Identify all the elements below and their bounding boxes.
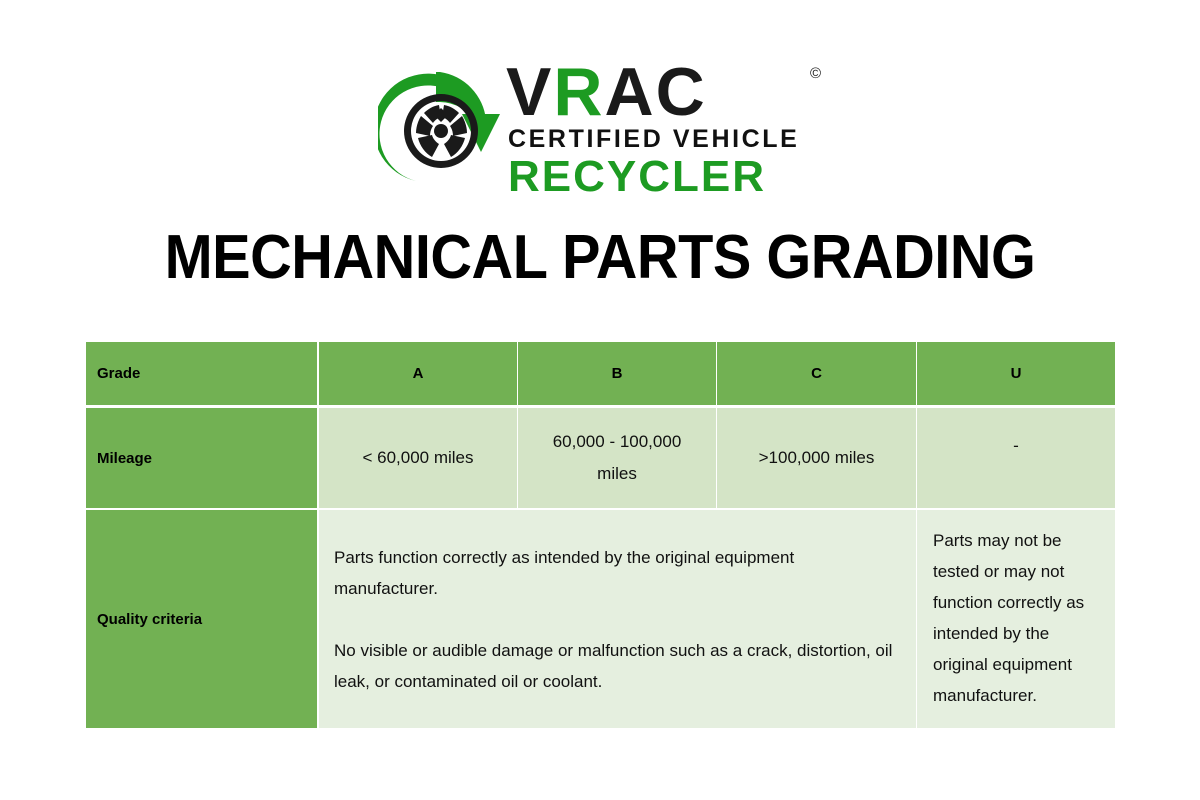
table-cell-mileage-u-text: -: [1013, 430, 1019, 462]
logo-tagline-line1: CERTIFIED VEHICLE: [508, 126, 799, 152]
copyright-icon: ©: [810, 66, 821, 81]
paragraph-spacer: [334, 604, 898, 635]
table-cell-mileage-a-text: < 60,000 miles: [362, 442, 473, 474]
table-cell-quality-abc-para2: No visible or audible damage or malfunct…: [334, 635, 898, 697]
table-header-grade-label: Grade: [97, 365, 317, 382]
table-header-b-label: B: [612, 365, 623, 382]
table-cell-quality-u: Parts may not be tested or may not funct…: [917, 510, 1115, 728]
table-header-a-label: A: [413, 365, 424, 382]
mechanical-parts-grading-table: Grade A B C U Mileage < 60,000 miles 60,…: [86, 342, 1115, 728]
table-header-c: C: [717, 342, 916, 405]
table-cell-mileage-u: -: [917, 408, 1115, 508]
table-row-label-mileage-text: Mileage: [97, 450, 317, 467]
table-header-grade: Grade: [86, 342, 317, 405]
vrac-logo: VRAC © CERTIFIED VEHICLE RECYCLER: [378, 58, 838, 203]
table-header-a: A: [319, 342, 517, 405]
table-row-label-quality-criteria-text: Quality criteria: [97, 611, 317, 628]
table-cell-mileage-c: >100,000 miles: [717, 408, 916, 508]
logo-brand-text: VRAC: [506, 58, 707, 126]
table-header-b: B: [518, 342, 716, 405]
table-header-c-label: C: [811, 365, 822, 382]
table-cell-mileage-c-text: >100,000 miles: [759, 442, 875, 474]
logo-tagline-line2: RECYCLER: [508, 154, 766, 200]
recycling-wheel-logo-icon: [378, 68, 508, 193]
table-cell-quality-u-text: Parts may not be tested or may not funct…: [933, 525, 1101, 711]
table-header-u-label: U: [1011, 365, 1022, 382]
logo-brand-letter-r: R: [553, 54, 604, 130]
table-cell-quality-abc: Parts function correctly as intended by …: [319, 510, 916, 728]
table-cell-quality-abc-para1: Parts function correctly as intended by …: [334, 542, 898, 604]
logo-wordmark: VRAC © CERTIFIED VEHICLE RECYCLER: [506, 58, 836, 203]
table-header-u: U: [917, 342, 1115, 405]
table-cell-mileage-b-text: 60,000 - 100,000 miles: [536, 426, 698, 490]
page-title: MECHANICAL PARTS GRADING: [42, 222, 1158, 294]
table-cell-mileage-a: < 60,000 miles: [319, 408, 517, 508]
table-row-label-quality-criteria: Quality criteria: [86, 510, 317, 728]
table-cell-mileage-b: 60,000 - 100,000 miles: [518, 408, 716, 508]
table-row-label-mileage: Mileage: [86, 408, 317, 508]
